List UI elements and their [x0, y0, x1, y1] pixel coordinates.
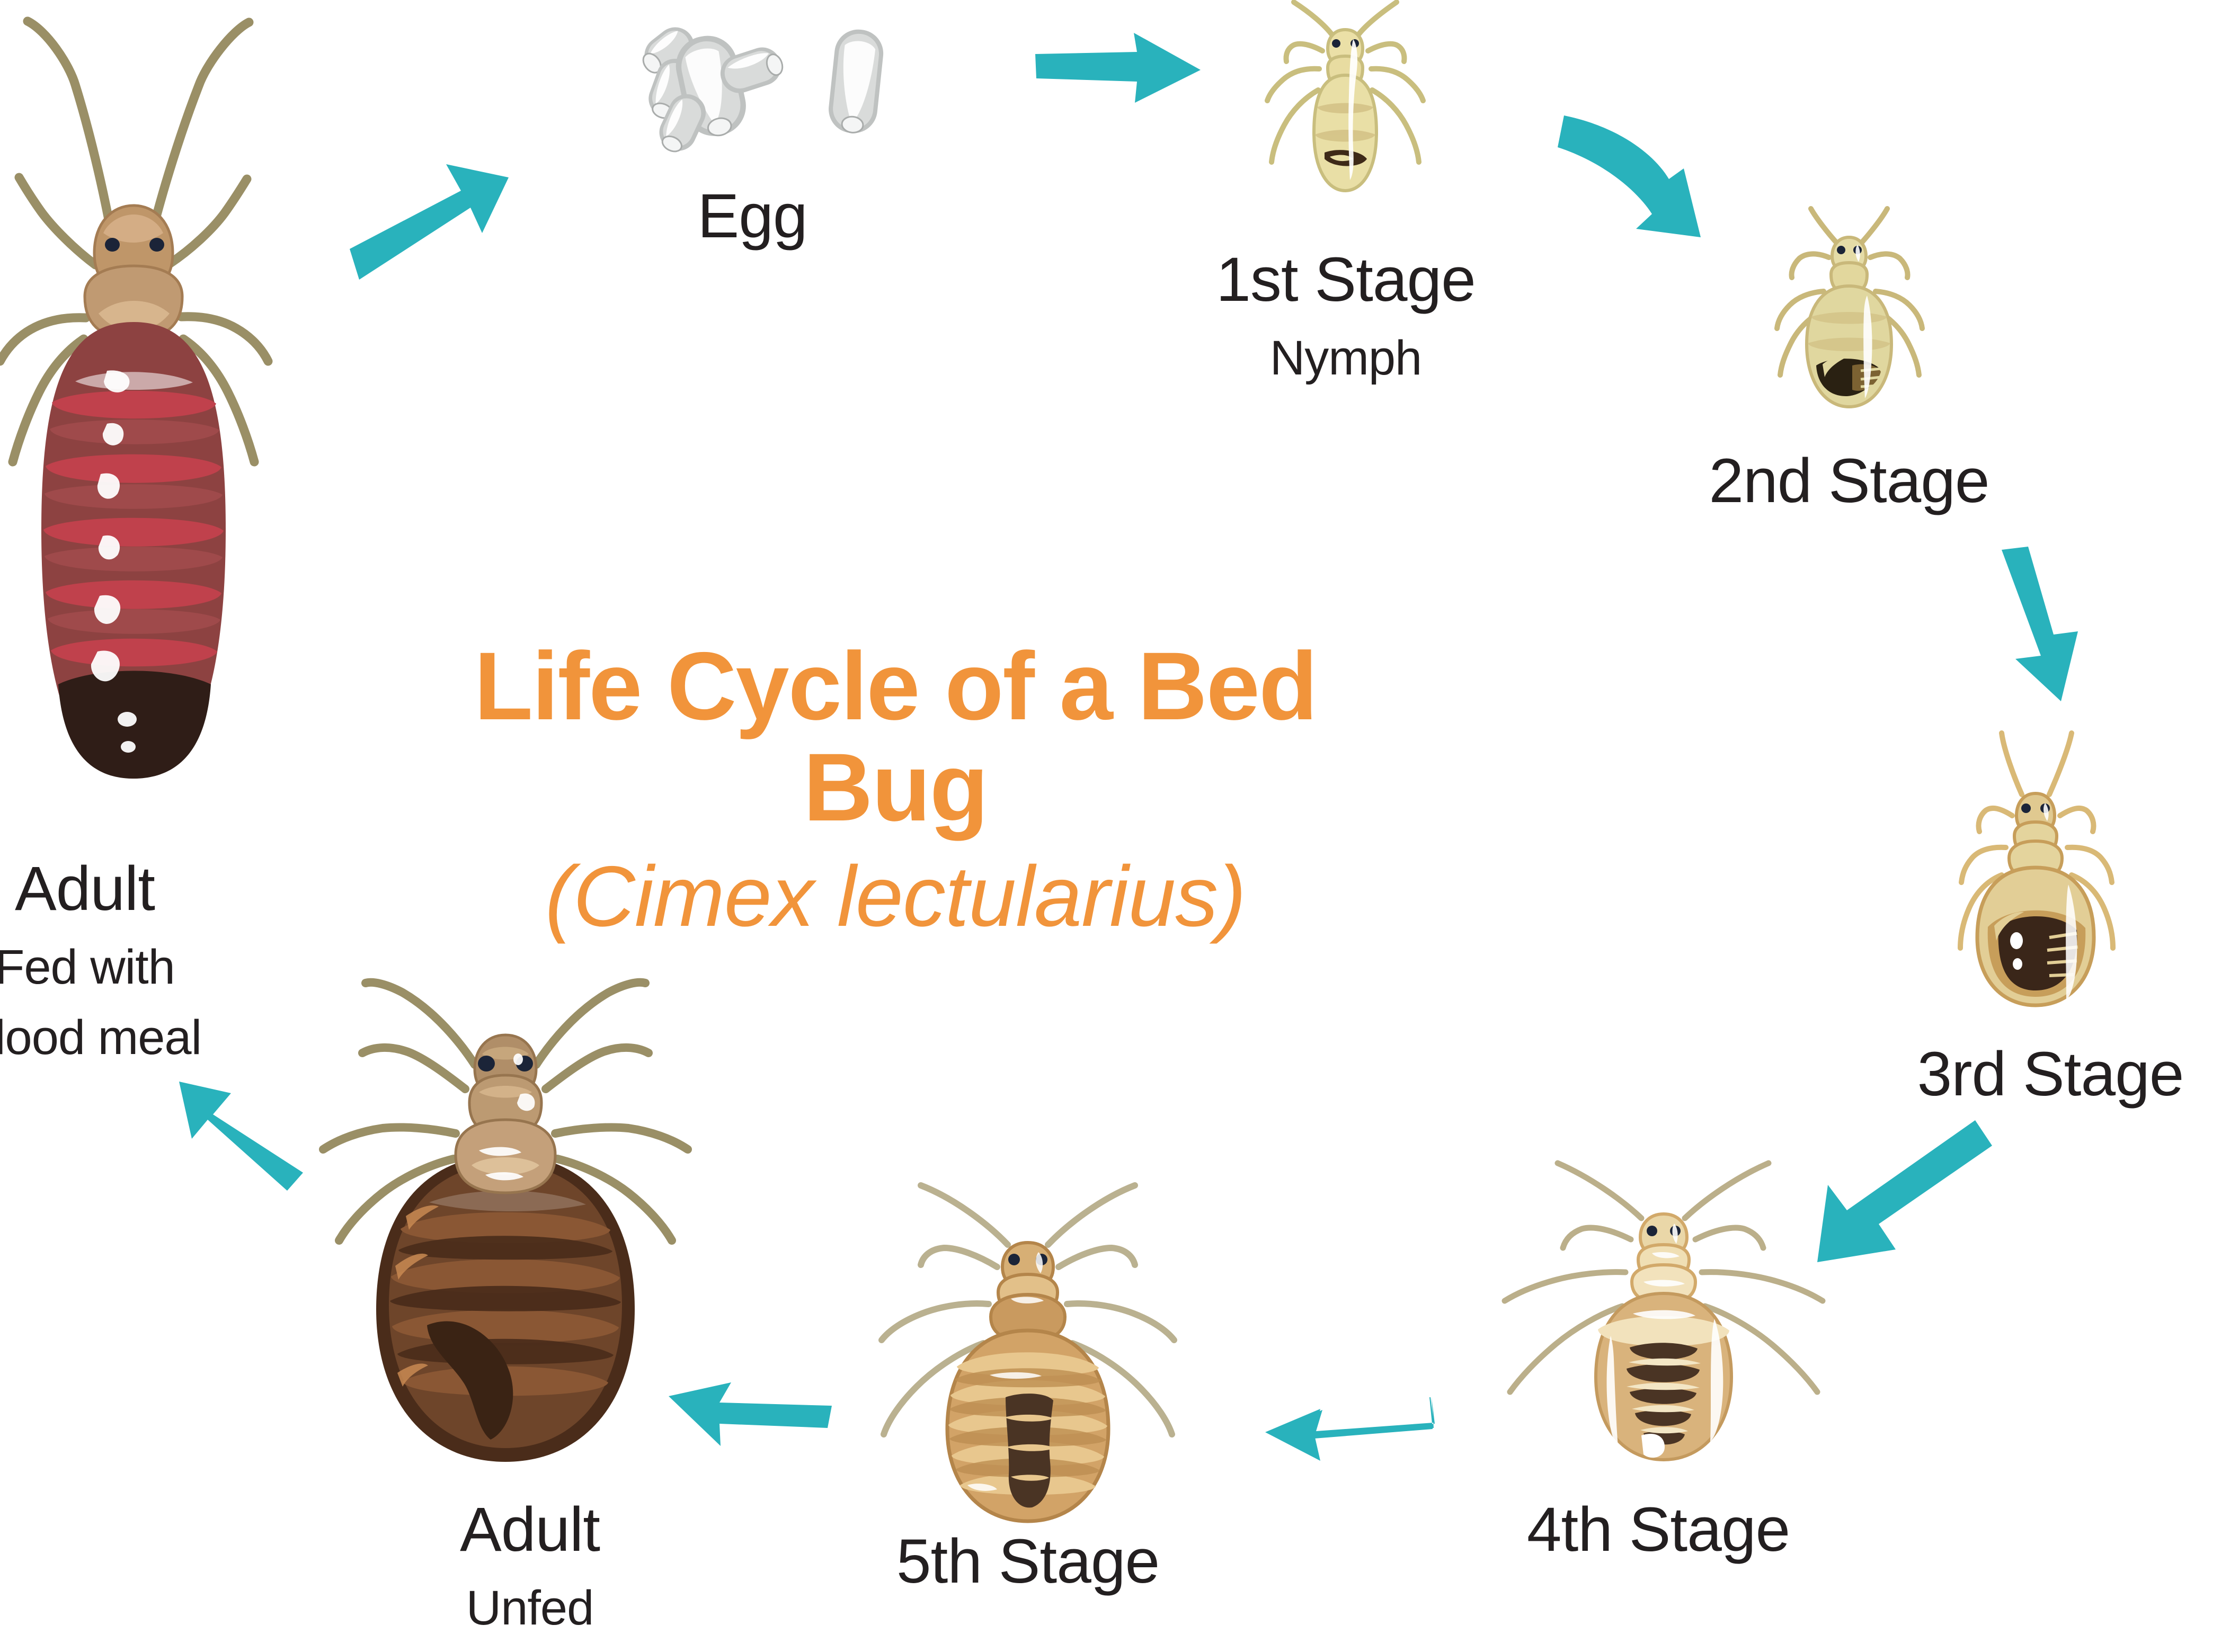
label-stage2: 2nd Stage	[1685, 429, 2013, 533]
arrow-icon	[1558, 115, 1701, 237]
label-egg: Egg	[604, 164, 901, 269]
stage-adult-unfed[interactable]	[297, 953, 715, 1483]
stage-egg[interactable]	[609, 11, 927, 169]
arrow-icon	[1817, 1120, 1992, 1262]
stage-2nd-nymph[interactable]	[1748, 207, 1950, 429]
stage-adult-fed[interactable]	[0, 0, 291, 837]
arrow-adult-unfed-to-adult-fed	[148, 1043, 328, 1224]
arrow-adult-fed-to-egg	[328, 148, 519, 302]
label-adult-unfed-title: Adult	[366, 1496, 694, 1564]
label-adult-fed-title: Adult	[0, 855, 233, 923]
page-title: Life Cycle of a Bed Bug (Cimex lectulari…	[440, 636, 1351, 946]
adult-unfed-illustration	[297, 953, 715, 1483]
label-stage1: 1st Stage Nymph	[1187, 228, 1505, 403]
fifth-stage-nymph-illustration	[864, 1165, 1192, 1536]
label-egg-title: Egg	[604, 183, 901, 250]
label-adult-unfed: Adult Unfed	[366, 1478, 694, 1652]
second-stage-nymph-illustration	[1748, 207, 1950, 429]
stage-5th-nymph[interactable]	[864, 1165, 1192, 1536]
label-stage1-title: 1st Stage	[1187, 246, 1505, 314]
label-stage4-title: 4th Stage	[1473, 1496, 1844, 1564]
stage-3rd-nymph[interactable]	[1918, 726, 2151, 1022]
adult-fed-illustration	[0, 0, 291, 837]
label-stage3: 3rd Stage	[1865, 1022, 2236, 1127]
label-stage5: 5th Stage	[858, 1510, 1197, 1614]
label-stage1-sub: Nymph	[1187, 332, 1505, 385]
arrow-icon	[1035, 33, 1201, 103]
fourth-stage-nymph-illustration	[1499, 1155, 1828, 1483]
label-stage3-title: 3rd Stage	[1865, 1041, 2236, 1108]
life-cycle-diagram: Life Cycle of a Bed Bug (Cimex lectulari…	[0, 0, 2239, 1652]
arrow-stage2-to-stage3	[1987, 524, 2178, 704]
title-species-text: (Cimex lectularius)	[440, 847, 1351, 946]
arrow-icon	[2002, 547, 2078, 701]
stage-1st-nymph[interactable]	[1234, 0, 1457, 233]
first-stage-nymph-illustration	[1234, 0, 1457, 233]
arrow-egg-to-stage1	[1033, 26, 1208, 127]
title-main-text: Life Cycle of a Bed Bug	[440, 636, 1351, 838]
egg-illustration	[609, 11, 927, 169]
label-stage5-title: 5th Stage	[858, 1528, 1197, 1595]
label-stage2-title: 2nd Stage	[1685, 448, 2013, 515]
label-adult-unfed-sub: Unfed	[366, 1582, 694, 1635]
arrow-icon	[179, 1082, 303, 1191]
stage-4th-nymph[interactable]	[1499, 1155, 1828, 1483]
arrow-stage4-to-stage5	[1261, 1388, 1436, 1472]
arrow-icon	[350, 164, 509, 280]
label-stage4: 4th Stage	[1473, 1478, 1844, 1582]
third-stage-nymph-illustration	[1918, 726, 2151, 1022]
label-adult-fed-sub1: Fed with	[0, 941, 233, 994]
